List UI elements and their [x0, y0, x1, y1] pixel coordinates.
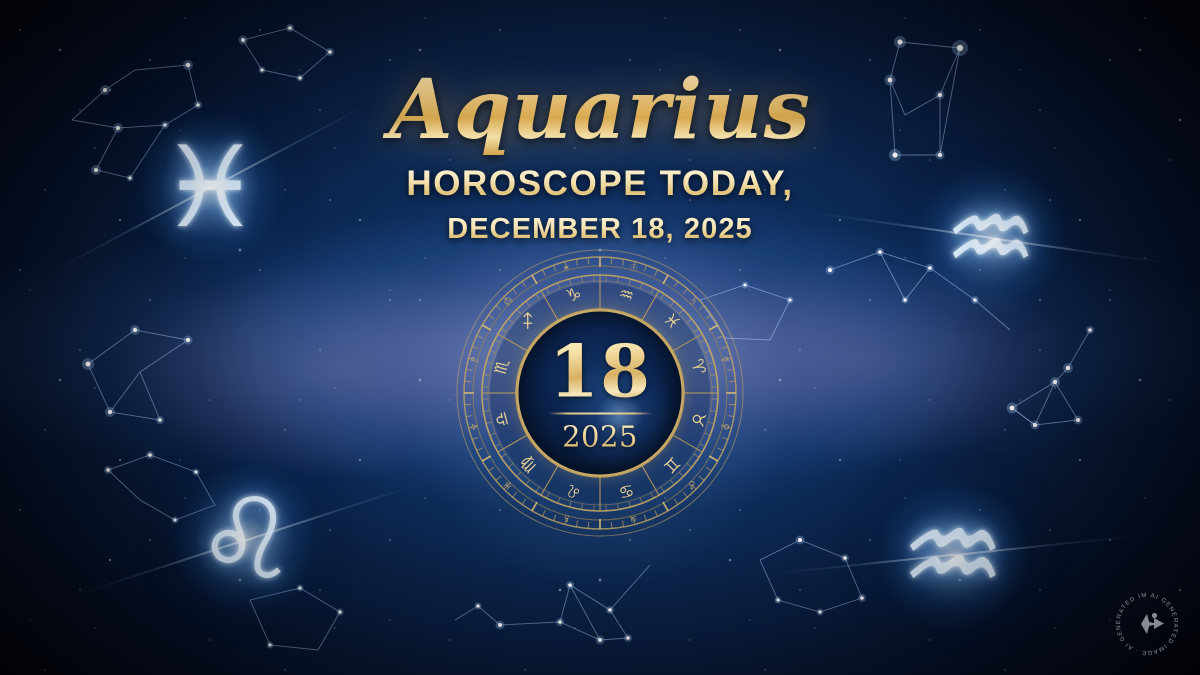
glow-burst: [171, 465, 321, 615]
light-ray: [18, 539, 247, 615]
horoscope-date: DECEMBER 18, 2025: [0, 213, 1200, 246]
wheel-planet-mercury: ☿: [719, 355, 731, 363]
constellation-bottom-center: [455, 565, 650, 645]
light-ray: [714, 554, 953, 581]
wheel-center-date: 18 2025: [519, 312, 682, 475]
date-day-number: 18: [549, 337, 651, 406]
glow-burst: [878, 480, 1028, 630]
constellation-left-lower: [104, 451, 215, 524]
wheel-planet-sun: ☉: [628, 262, 639, 275]
constellation-bottom-left: [250, 585, 344, 651]
wheel-planet-jupiter: ♃: [628, 511, 639, 524]
horoscope-card: ♓ ♌ ♒ ♒ Aquarius HOROSCOPE TODAY, DECEMB…: [0, 0, 1200, 675]
light-ray: [953, 529, 1192, 556]
constellation-right-upper: [826, 248, 1011, 330]
constellation-left-mid: [82, 325, 193, 424]
ai-generated-watermark: AI GENERATED IMAGE · AI GENERATED IMAGE …: [1110, 587, 1184, 661]
glyph-char: ♌: [196, 475, 296, 605]
light-ray: [246, 465, 475, 541]
date-year: 2025: [562, 419, 638, 453]
wheel-planet-pluto: ♇: [469, 354, 482, 365]
wheel-planet-venus: ♀: [718, 422, 730, 432]
horoscope-subtitle: HOROSCOPE TODAY,: [0, 164, 1200, 204]
aquarius-glyph-icon-lower: ♒: [900, 496, 1006, 614]
constellation-right-lower: [1007, 326, 1095, 430]
title-block: Aquarius HOROSCOPE TODAY, DECEMBER 18, 2…: [0, 0, 1200, 246]
wheel-planet-saturn: ♄: [561, 511, 572, 524]
sparkle-star-icon: [1141, 613, 1164, 634]
zodiac-wheel: ♒♓♈♉♊♋♌♍♎♏♐♑ ☉☽☿♀♂♃♄♅♆♇☊✶ 18 2025: [455, 248, 745, 538]
constellation-bottom-right: [760, 536, 866, 616]
glyph-char: ♒: [900, 486, 1006, 624]
zodiac-sign-title: Aquarius: [0, 62, 1200, 158]
wheel-planet-neptune: ♆: [469, 421, 482, 432]
leo-glyph-icon: ♌: [196, 484, 296, 596]
wheel-planet-star: ✶: [561, 262, 572, 275]
